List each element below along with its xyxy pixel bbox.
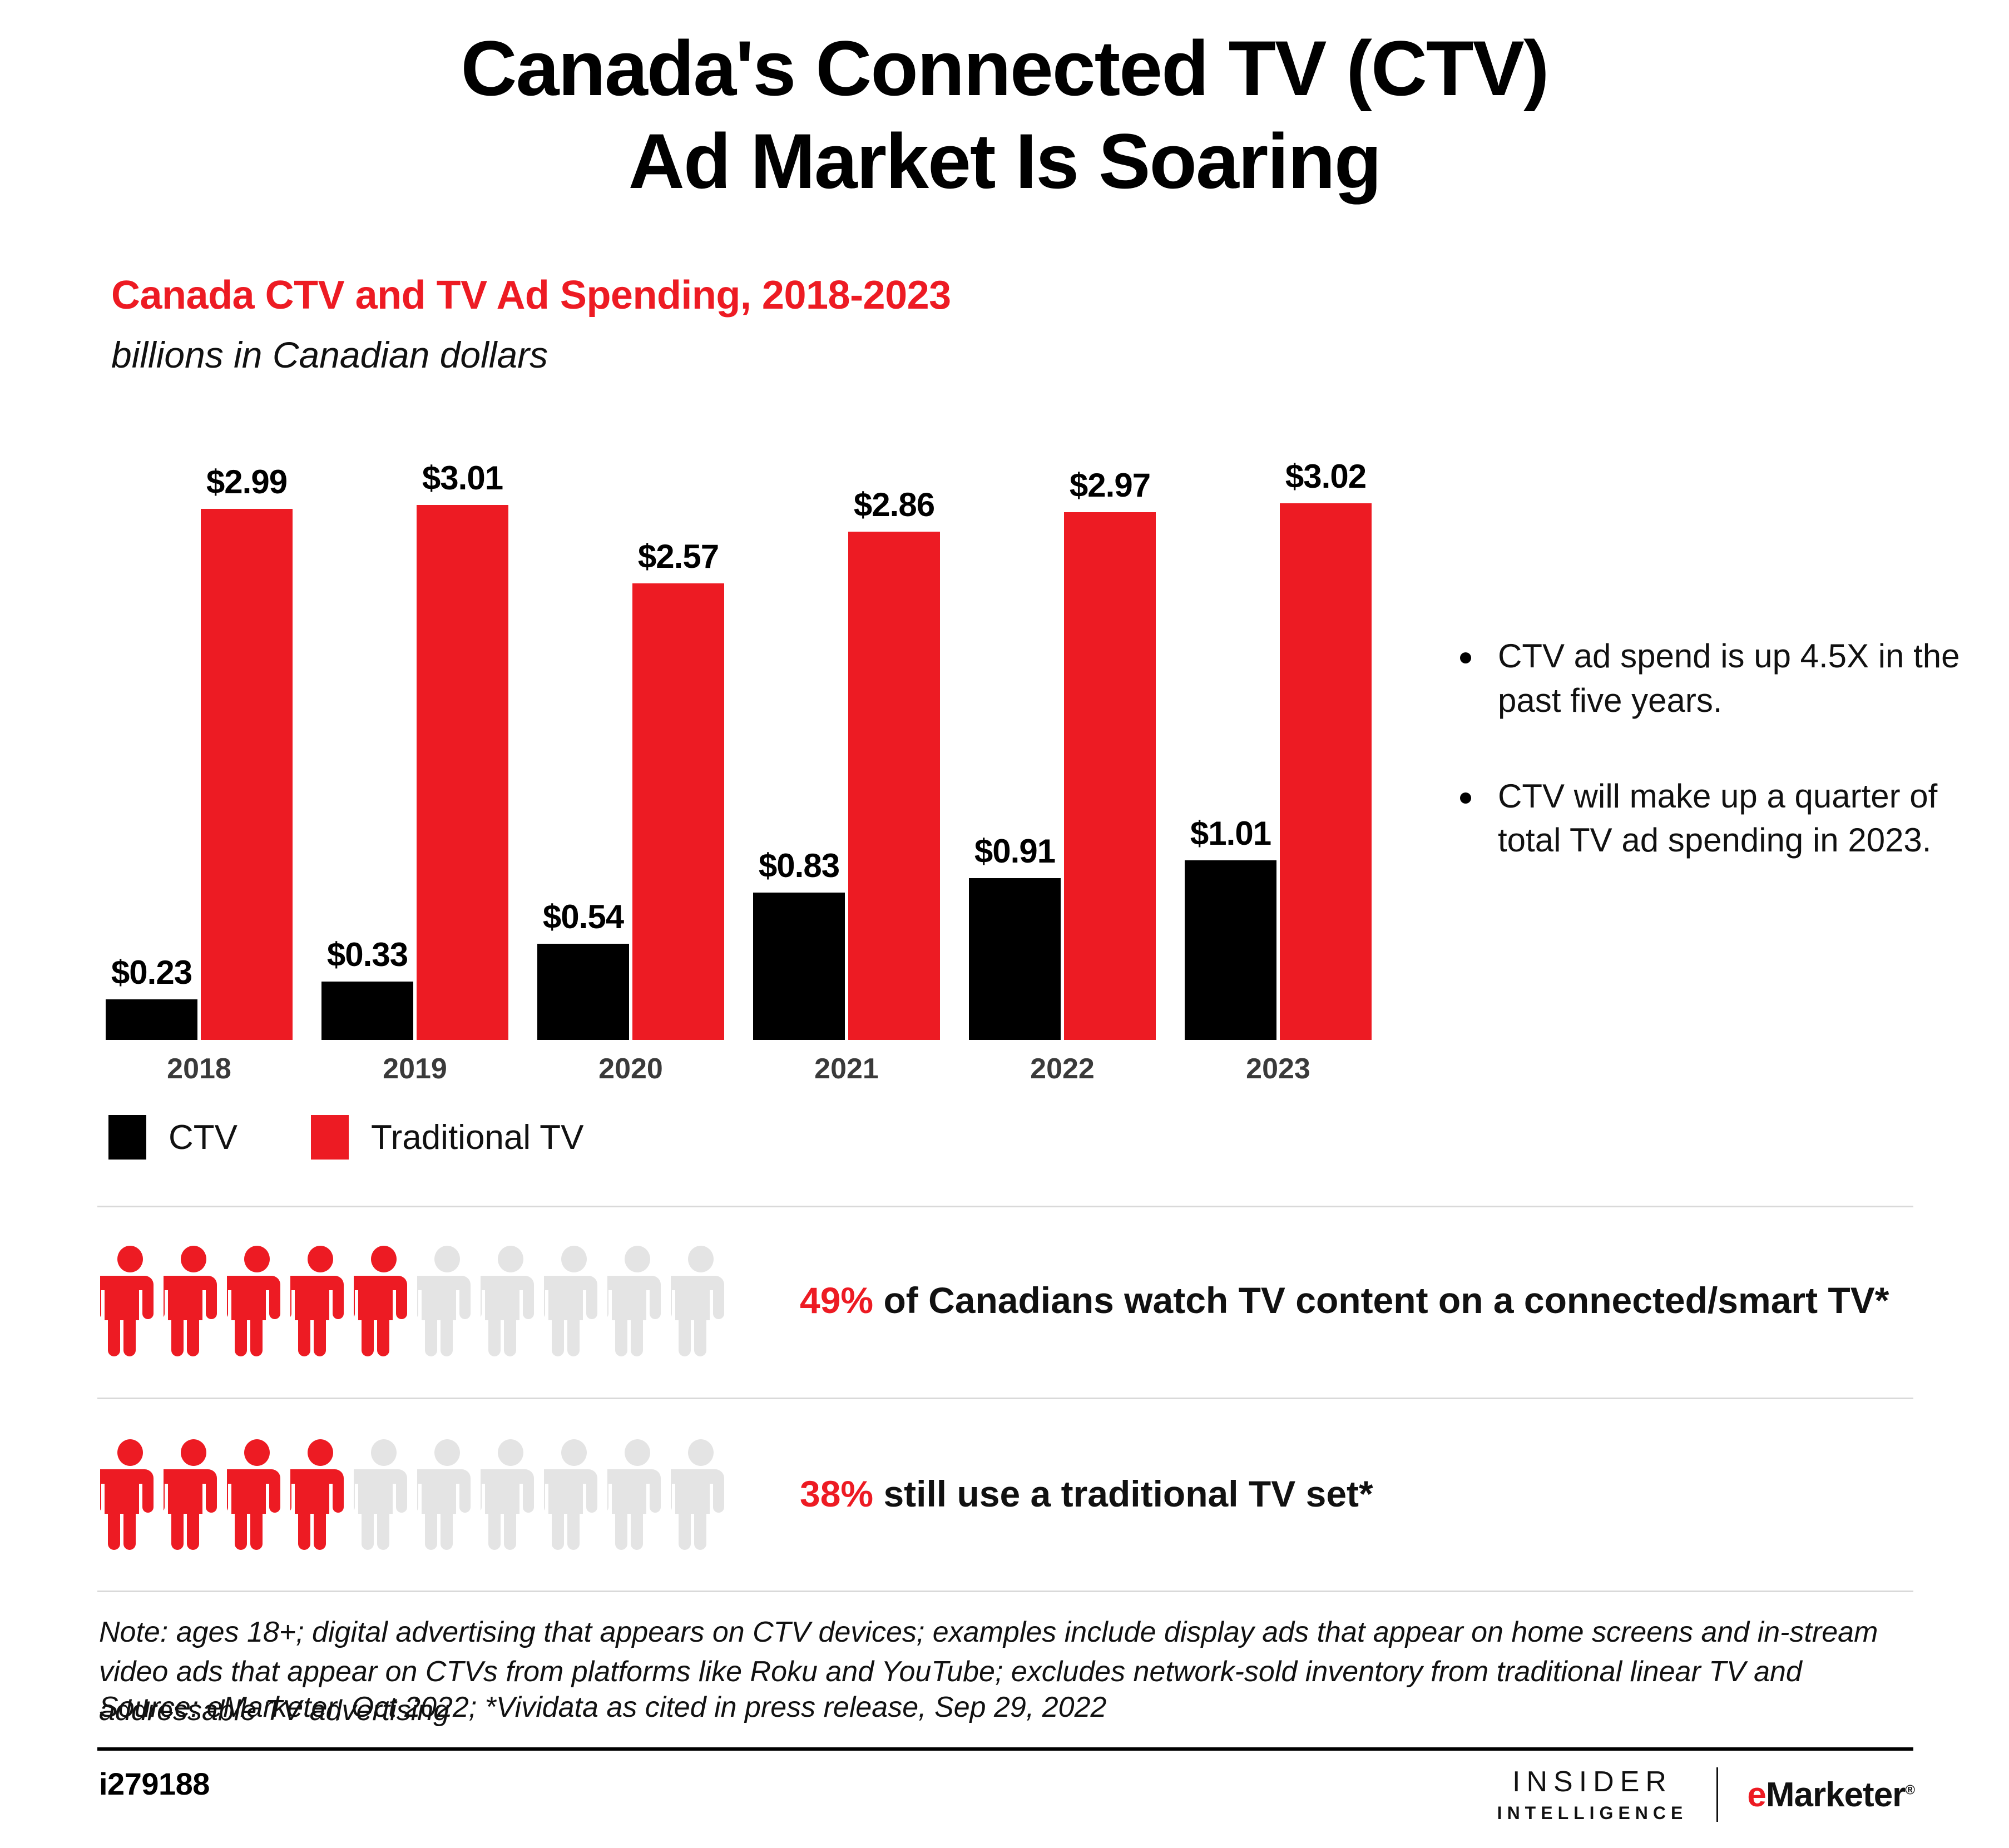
x-axis-label-2019: 2019 [320, 1052, 509, 1086]
bar-chart: $0.23$2.992018$0.33$3.012019$0.54$2.5720… [106, 462, 1402, 1040]
bar-rect [1064, 512, 1156, 1040]
source-text: Source: eMarketer, Oct 2022; *Vividata a… [99, 1691, 1106, 1724]
people-icon-group [100, 1246, 731, 1357]
key-takeaways-list: CTV ad spend is up 4.5X in the past five… [1454, 634, 2000, 914]
bar-value-label: $2.57 [638, 537, 719, 576]
divider [97, 1398, 1913, 1399]
divider [97, 1206, 1913, 1207]
person-icon-filled [164, 1246, 224, 1357]
headline-line-2: Ad Market Is Soaring [0, 115, 2009, 208]
chart-title: Canada CTV and TV Ad Spending, 2018-2023 [111, 273, 951, 318]
person-icon-filled [290, 1246, 350, 1357]
bar-rect [321, 982, 413, 1040]
bar-value-label: $0.23 [111, 953, 192, 992]
x-axis-label-2023: 2023 [1184, 1052, 1373, 1086]
person-icon-filled [164, 1439, 224, 1550]
person-icon-filled [227, 1246, 287, 1357]
infographic-page: Canada's Connected TV (CTV) Ad Market Is… [0, 0, 2009, 1848]
bar-value-label: $0.83 [759, 846, 839, 885]
person-icon-empty [607, 1439, 667, 1550]
person-icon-empty [607, 1246, 667, 1357]
bar-value-label: $0.91 [974, 832, 1055, 870]
divider [97, 1591, 1913, 1592]
bar-rect [969, 878, 1061, 1040]
bar-value-label: $3.01 [422, 459, 503, 497]
page-title: Canada's Connected TV (CTV) Ad Market Is… [0, 22, 2009, 207]
person-icon-empty [481, 1439, 541, 1550]
bar-value-label: $0.33 [327, 935, 408, 974]
bar-rect [632, 583, 724, 1040]
person-icon-empty [671, 1439, 731, 1550]
status-badge: 38% [800, 1473, 873, 1514]
list-item: CTV will make up a quarter of total TV a… [1454, 774, 2000, 863]
stat-description: of Canadians watch TV content on a conne… [873, 1280, 1889, 1321]
person-icon-empty [417, 1246, 477, 1357]
people-icon-group [100, 1439, 731, 1550]
bar-rect [417, 505, 508, 1040]
legend-label-traditional-tv: Traditional TV [371, 1118, 584, 1157]
bar-value-label: $3.02 [1285, 457, 1366, 496]
brand-divider [1716, 1767, 1718, 1822]
status-badge: 49% [800, 1280, 873, 1321]
legend-item-traditional-tv[interactable]: Traditional TV [311, 1115, 584, 1160]
chart-legend: CTV Traditional TV [108, 1115, 584, 1160]
emarketer-logo-rest: Marketer [1766, 1776, 1905, 1814]
legend-swatch-ctv-icon [108, 1115, 146, 1160]
stat-description: still use a traditional TV set* [873, 1473, 1373, 1514]
person-icon-empty [544, 1439, 604, 1550]
person-icon-empty [417, 1439, 477, 1550]
insider-intelligence-logo: INSIDER INTELLIGENCE [1497, 1767, 1688, 1822]
x-axis-label-2021: 2021 [752, 1052, 941, 1086]
bar-rect [201, 509, 293, 1040]
bar-value-label: $2.97 [1070, 466, 1150, 504]
person-icon-empty [354, 1439, 414, 1550]
brand-logos: INSIDER INTELLIGENCE eMarketer® [1497, 1767, 1914, 1822]
insider-logo-line-2: INTELLIGENCE [1497, 1804, 1688, 1822]
chart-subtitle: billions in Canadian dollars [111, 334, 548, 376]
stat-traditional-tv: 38% still use a traditional TV set* [800, 1473, 1373, 1515]
bar-value-label: $2.99 [206, 463, 287, 501]
person-icon-empty [544, 1246, 604, 1357]
person-icon-filled [354, 1246, 414, 1357]
person-icon-filled [290, 1439, 350, 1550]
person-icon-empty [671, 1246, 731, 1357]
bar-rect [537, 944, 629, 1040]
person-icon-filled [227, 1439, 287, 1550]
bar-rect [106, 999, 197, 1040]
insider-logo-line-1: INSIDER [1497, 1767, 1688, 1796]
person-icon-filled [100, 1439, 160, 1550]
bar-rect [848, 532, 940, 1040]
bar-value-label: $0.54 [543, 898, 624, 936]
person-icon-filled [100, 1246, 160, 1357]
footer-divider [97, 1747, 1913, 1751]
person-icon-empty [481, 1246, 541, 1357]
legend-swatch-traditional-tv-icon [311, 1115, 349, 1160]
chart-id: i279188 [99, 1766, 210, 1802]
headline-line-1: Canada's Connected TV (CTV) [0, 22, 2009, 115]
emarketer-logo: eMarketer® [1747, 1775, 1914, 1815]
legend-item-ctv[interactable]: CTV [108, 1115, 237, 1160]
pictogram-row-connected-tv [100, 1246, 731, 1357]
list-item: CTV ad spend is up 4.5X in the past five… [1454, 634, 2000, 723]
x-axis-label-2022: 2022 [968, 1052, 1157, 1086]
bar-rect [1185, 860, 1276, 1040]
stat-connected-tv: 49% of Canadians watch TV content on a c… [800, 1279, 1889, 1321]
bar-value-label: $2.86 [854, 485, 934, 524]
bar-rect [1280, 503, 1372, 1040]
legend-label-ctv: CTV [169, 1118, 237, 1157]
emarketer-logo-e: e [1747, 1776, 1765, 1814]
registered-mark-icon: ® [1905, 1782, 1914, 1797]
bar-value-label: $1.01 [1190, 814, 1271, 853]
x-axis-label-2020: 2020 [536, 1052, 725, 1086]
x-axis-label-2018: 2018 [105, 1052, 294, 1086]
pictogram-row-traditional-tv [100, 1439, 731, 1550]
bar-rect [753, 893, 845, 1040]
